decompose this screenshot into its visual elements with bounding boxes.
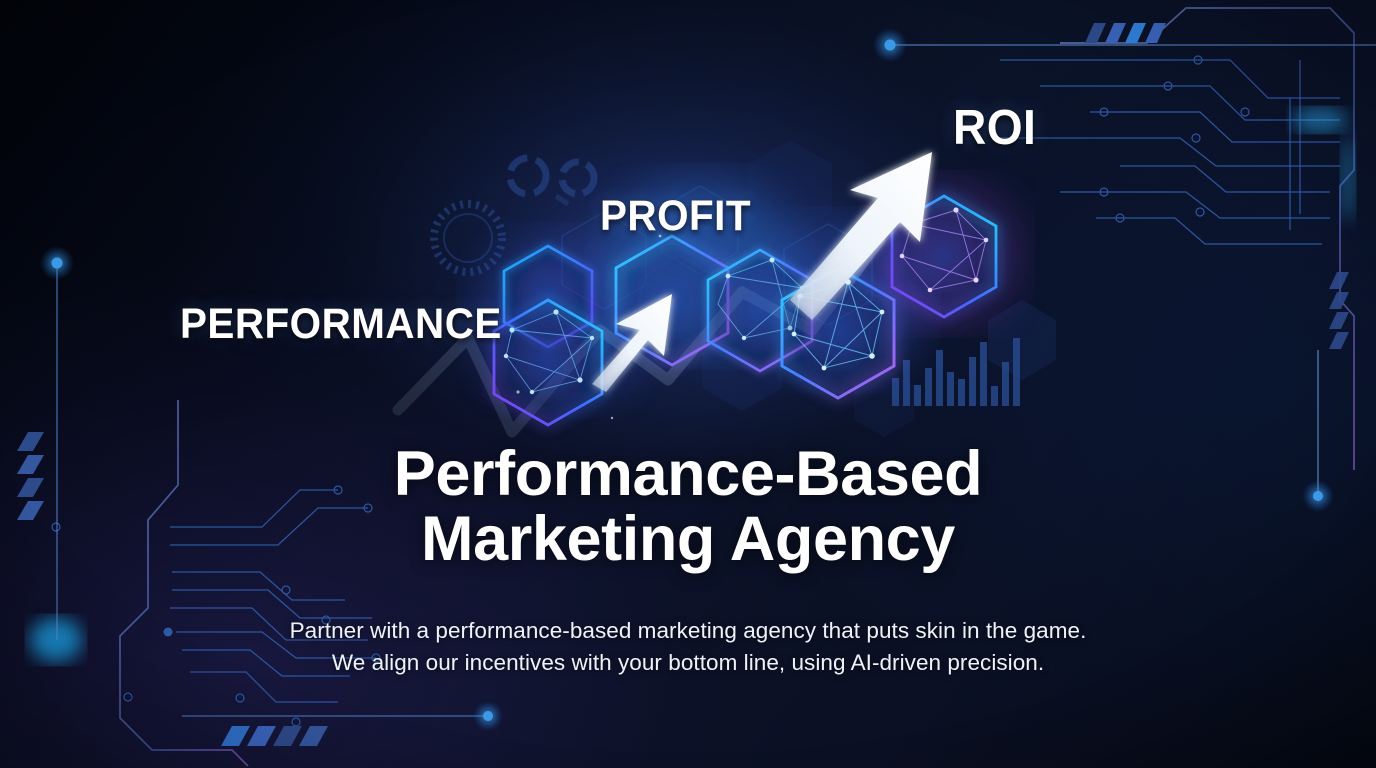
- headline-line-2: Marketing Agency: [0, 507, 1376, 572]
- subtitle-line-1: Partner with a performance-based marketi…: [0, 615, 1376, 647]
- center-bloom: [360, 55, 1020, 485]
- hexagon-3: [616, 236, 728, 365]
- hex-nodes-6: [900, 207, 989, 292]
- decor-ring-small-b: [556, 162, 594, 204]
- slash-markers-bottom-left: [221, 726, 328, 746]
- decor-ring-large: [434, 204, 502, 272]
- hex-nodes-5: [792, 279, 885, 370]
- mini-bar-chart: [892, 338, 1020, 406]
- edge-glow-right: [1292, 108, 1348, 132]
- slash-markers-right-edge: [1329, 272, 1349, 349]
- hexagon-5: [782, 268, 894, 398]
- keyword-roi: ROI: [953, 100, 1036, 156]
- hexagon-1: [504, 246, 592, 347]
- hexagon-4: [708, 250, 812, 371]
- hex-nodes-2: [504, 309, 594, 394]
- slash-markers-top-right: [1085, 23, 1166, 43]
- glow-node-bottom: [182, 701, 503, 731]
- hero-banner: PERFORMANCE PROFIT ROI Performance-Based…: [0, 0, 1376, 768]
- keyword-profit: PROFIT: [600, 192, 751, 241]
- decor-ring-small-a: [510, 158, 546, 194]
- page-title: Performance-Based Marketing Agency: [0, 442, 1376, 572]
- hexagon-2: [494, 300, 602, 425]
- headline-line-1: Performance-Based: [0, 442, 1376, 507]
- keyword-performance: PERFORMANCE: [180, 300, 502, 349]
- hexagon-backdrop-group: [634, 140, 1056, 437]
- growth-arrow-upper: [790, 152, 932, 320]
- circuit-corner-top-right: [1000, 8, 1354, 470]
- growth-arrow-lower: [592, 294, 672, 392]
- hexagon-6: [892, 196, 996, 317]
- edge-glow-right-2: [1341, 134, 1355, 222]
- subtitle-line-2: We align our incentives with your bottom…: [0, 647, 1376, 679]
- hex-nodes-4: [726, 258, 805, 341]
- page-subtitle: Partner with a performance-based marketi…: [0, 615, 1376, 679]
- glow-node-top: [873, 28, 1376, 62]
